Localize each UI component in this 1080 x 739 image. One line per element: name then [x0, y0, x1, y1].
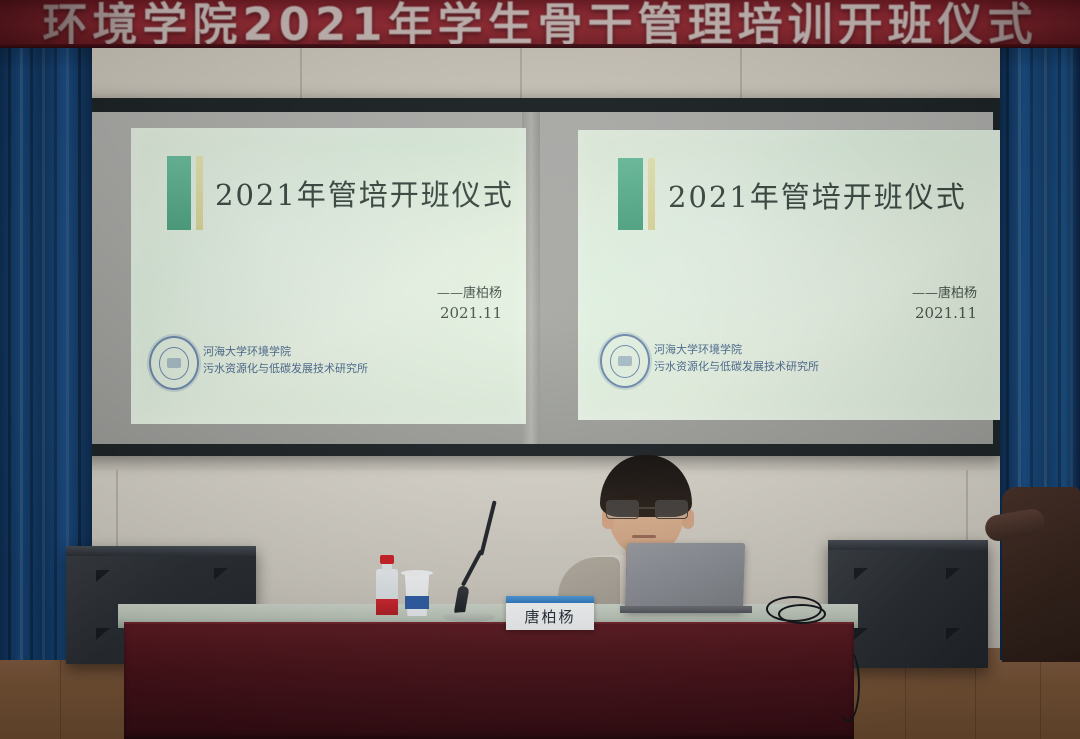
slide-accent-bar: [167, 156, 203, 230]
photo-scene: 2021年管培开班仪式 ——唐柏杨 2021.11 河海大学环境学院 污水资源化…: [0, 0, 1080, 739]
glasses-icon: [606, 500, 686, 517]
nameplate-name: 唐柏杨: [524, 606, 575, 627]
presenter-mouth: [632, 535, 656, 538]
nameplate-strip: [506, 596, 594, 603]
slide-title: 2021年管培开班仪式: [668, 174, 967, 216]
accent-yellow-block: [196, 156, 203, 230]
accent-green-block: [618, 158, 643, 230]
projected-slide-left: 2021年管培开班仪式 ——唐柏杨 2021.11 河海大学环境学院 污水资源化…: [131, 128, 526, 424]
paper-cup: [403, 572, 431, 616]
university-seal-icon: [149, 336, 199, 390]
accent-green-block: [167, 156, 191, 230]
slide-org: 河海大学环境学院 污水资源化与低碳发展技术研究所: [203, 344, 368, 377]
water-bottle: [376, 555, 398, 615]
university-seal-icon: [600, 334, 650, 388]
slide-title: 2021年管培开班仪式: [215, 172, 514, 214]
slide-org: 河海大学环境学院 污水资源化与低碳发展技术研究所: [654, 342, 819, 375]
slide-date: 2021.11: [440, 304, 502, 322]
slide-author: ——唐柏杨: [912, 282, 977, 301]
event-banner: 环境学院2021年学生骨干管理培训开班仪式: [0, 0, 1080, 46]
slide-date: 2021.11: [915, 304, 977, 322]
nameplate: 唐柏杨: [506, 596, 594, 630]
projected-slide-right: 2021年管培开班仪式 ——唐柏杨 2021.11 河海大学环境学院 污水资源化…: [578, 130, 1003, 420]
banner-bottom-edge: [0, 44, 1080, 48]
bottle-label: [376, 599, 398, 615]
paper-cup-rim: [401, 570, 433, 576]
presidium-table-front: [124, 624, 854, 739]
slide-org-line2: 污水资源化与低碳发展技术研究所: [203, 361, 368, 378]
laptop-lid[interactable]: [625, 543, 745, 611]
paper-cup-band: [405, 596, 429, 609]
banner-shading: [0, 0, 1080, 46]
bottle-cap: [380, 555, 394, 564]
laptop-base[interactable]: [620, 606, 752, 613]
slide-org-line1: 河海大学环境学院: [654, 342, 819, 359]
slide-org-line1: 河海大学环境学院: [203, 344, 368, 361]
microphone-base: [443, 612, 495, 622]
accent-yellow-block: [648, 158, 655, 230]
slide-org-line2: 污水资源化与低碳发展技术研究所: [654, 359, 819, 376]
wall-seam: [740, 46, 742, 106]
wall-seam: [300, 46, 302, 106]
wall-seam: [520, 46, 522, 106]
cable-coil: [778, 604, 826, 624]
cable-run: [836, 648, 860, 722]
slide-accent-bar: [618, 158, 655, 230]
slide-author: ——唐柏杨: [437, 282, 502, 301]
